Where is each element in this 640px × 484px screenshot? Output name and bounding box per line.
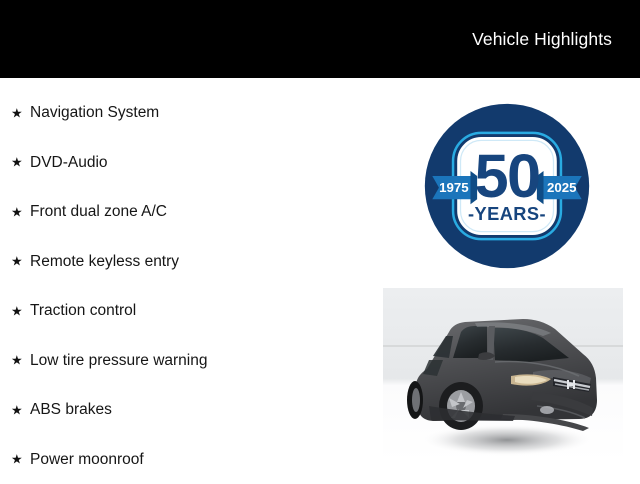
badge-years-label: -YEARS-: [468, 203, 546, 224]
list-item: ★ Power moonroof: [0, 435, 370, 484]
vehicle-photo: [383, 288, 623, 462]
star-bullet-icon: ★: [11, 354, 23, 367]
list-item: ★ Traction control: [0, 286, 370, 336]
anniversary-badge-icon: 1975 2025 50 -YEARS-: [424, 103, 590, 269]
star-bullet-icon: ★: [11, 106, 23, 119]
highlight-label: ABS brakes: [30, 400, 112, 419]
list-item: ★ Low tire pressure warning: [0, 336, 370, 386]
list-item: ★ Front dual zone A/C: [0, 187, 370, 237]
highlight-label: DVD-Audio: [30, 153, 108, 172]
vehicle-highlights-list: ★ Navigation System ★ DVD-Audio ★ Front …: [0, 88, 370, 484]
list-item: ★ ABS brakes: [0, 385, 370, 435]
page-title: Vehicle Highlights: [472, 29, 612, 49]
header-bar: Vehicle Highlights: [0, 0, 640, 78]
anniversary-badge: 1975 2025 50 -YEARS-: [424, 103, 590, 269]
list-item: ★ Remote keyless entry: [0, 237, 370, 287]
star-bullet-icon: ★: [11, 304, 23, 317]
star-bullet-icon: ★: [11, 156, 23, 169]
badge-number: 50: [475, 142, 540, 211]
list-item: ★ DVD-Audio: [0, 138, 370, 188]
badge-start-year: 1975: [439, 180, 469, 195]
highlight-label: Navigation System: [30, 103, 159, 122]
highlight-label: Traction control: [30, 301, 136, 320]
vehicle-photo-image: [383, 288, 623, 462]
star-bullet-icon: ★: [11, 403, 23, 416]
list-item: ★ Navigation System: [0, 88, 370, 138]
star-bullet-icon: ★: [11, 255, 23, 268]
highlight-label: Front dual zone A/C: [30, 202, 167, 221]
front-wheel: [439, 382, 483, 430]
badge-end-year: 2025: [547, 180, 577, 195]
highlight-label: Remote keyless entry: [30, 252, 179, 271]
vehicle-highlights-page: Vehicle Highlights ★ Navigation System ★…: [0, 0, 640, 480]
rear-wheel: [407, 381, 423, 419]
highlight-label: Low tire pressure warning: [30, 351, 207, 370]
star-bullet-icon: ★: [11, 205, 23, 218]
star-bullet-icon: ★: [11, 453, 23, 466]
highlight-label: Power moonroof: [30, 450, 144, 469]
